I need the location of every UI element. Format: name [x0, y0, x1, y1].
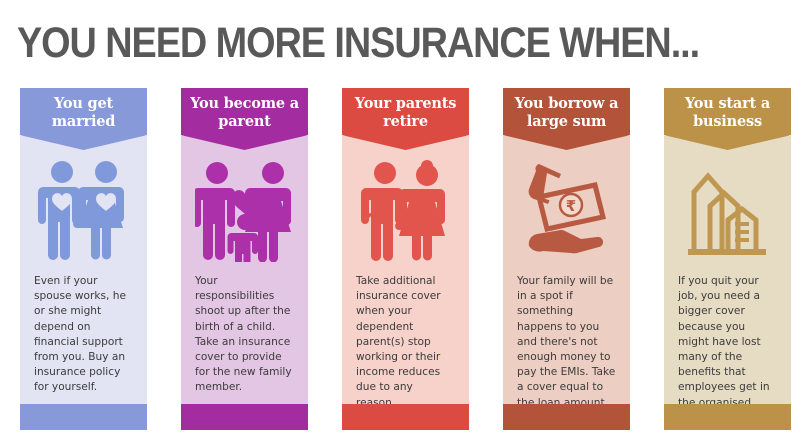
page-title: YOU NEED MORE INSURANCE WHEN...	[17, 21, 703, 65]
reason-column-married: You get married	[20, 88, 147, 430]
column-footer-parents-retire	[342, 404, 469, 430]
column-body-parents-retire: Take additional insurance cover when you…	[342, 136, 469, 430]
family-with-child-icon	[181, 150, 308, 266]
reason-column-parents-retire: Your parents retire	[342, 88, 469, 430]
column-footer-business	[664, 404, 791, 430]
column-heading-label: You start a business	[670, 95, 785, 131]
column-description-business: If you quit your job, you need a bigger …	[664, 266, 791, 426]
column-footer-borrow	[503, 404, 630, 430]
column-heading-label: Your parents retire	[348, 95, 463, 131]
column-footer-parent	[181, 404, 308, 430]
column-body-parent: Your responsibilities shoot up after the…	[181, 136, 308, 430]
column-description-married: Even if your spouse works, he or she mig…	[20, 266, 147, 396]
column-body-business: If you quit your job, you need a bigger …	[664, 136, 791, 430]
reason-column-business: You start a business	[664, 88, 791, 430]
reason-columns: You get married	[0, 88, 812, 438]
column-footer-married	[20, 404, 147, 430]
office-buildings-icon	[664, 150, 791, 266]
column-description-parents-retire: Take additional insurance cover when you…	[342, 266, 469, 411]
column-heading-label: You get married	[26, 95, 141, 131]
column-heading-label: You borrow a large sum	[509, 95, 624, 131]
elderly-couple-icon	[342, 150, 469, 266]
column-heading-label: You become a parent	[187, 95, 302, 131]
svg-text:₹: ₹	[565, 197, 575, 215]
couple-holding-hands-icon	[20, 150, 147, 266]
reason-column-borrow: You borrow a large sum	[503, 88, 630, 430]
reason-column-parent: You become a parent	[181, 88, 308, 430]
column-description-parent: Your responsibilities shoot up after the…	[181, 266, 308, 396]
infographic-root: YOU NEED MORE INSURANCE WHEN... You get …	[0, 0, 812, 438]
column-body-borrow: ₹ Your family will be in a spot if somet…	[503, 136, 630, 430]
column-body-married: Even if your spouse works, he or she mig…	[20, 136, 147, 430]
column-description-borrow: Your family will be in a spot if somethi…	[503, 266, 630, 411]
hands-exchanging-money-icon: ₹	[503, 150, 630, 266]
